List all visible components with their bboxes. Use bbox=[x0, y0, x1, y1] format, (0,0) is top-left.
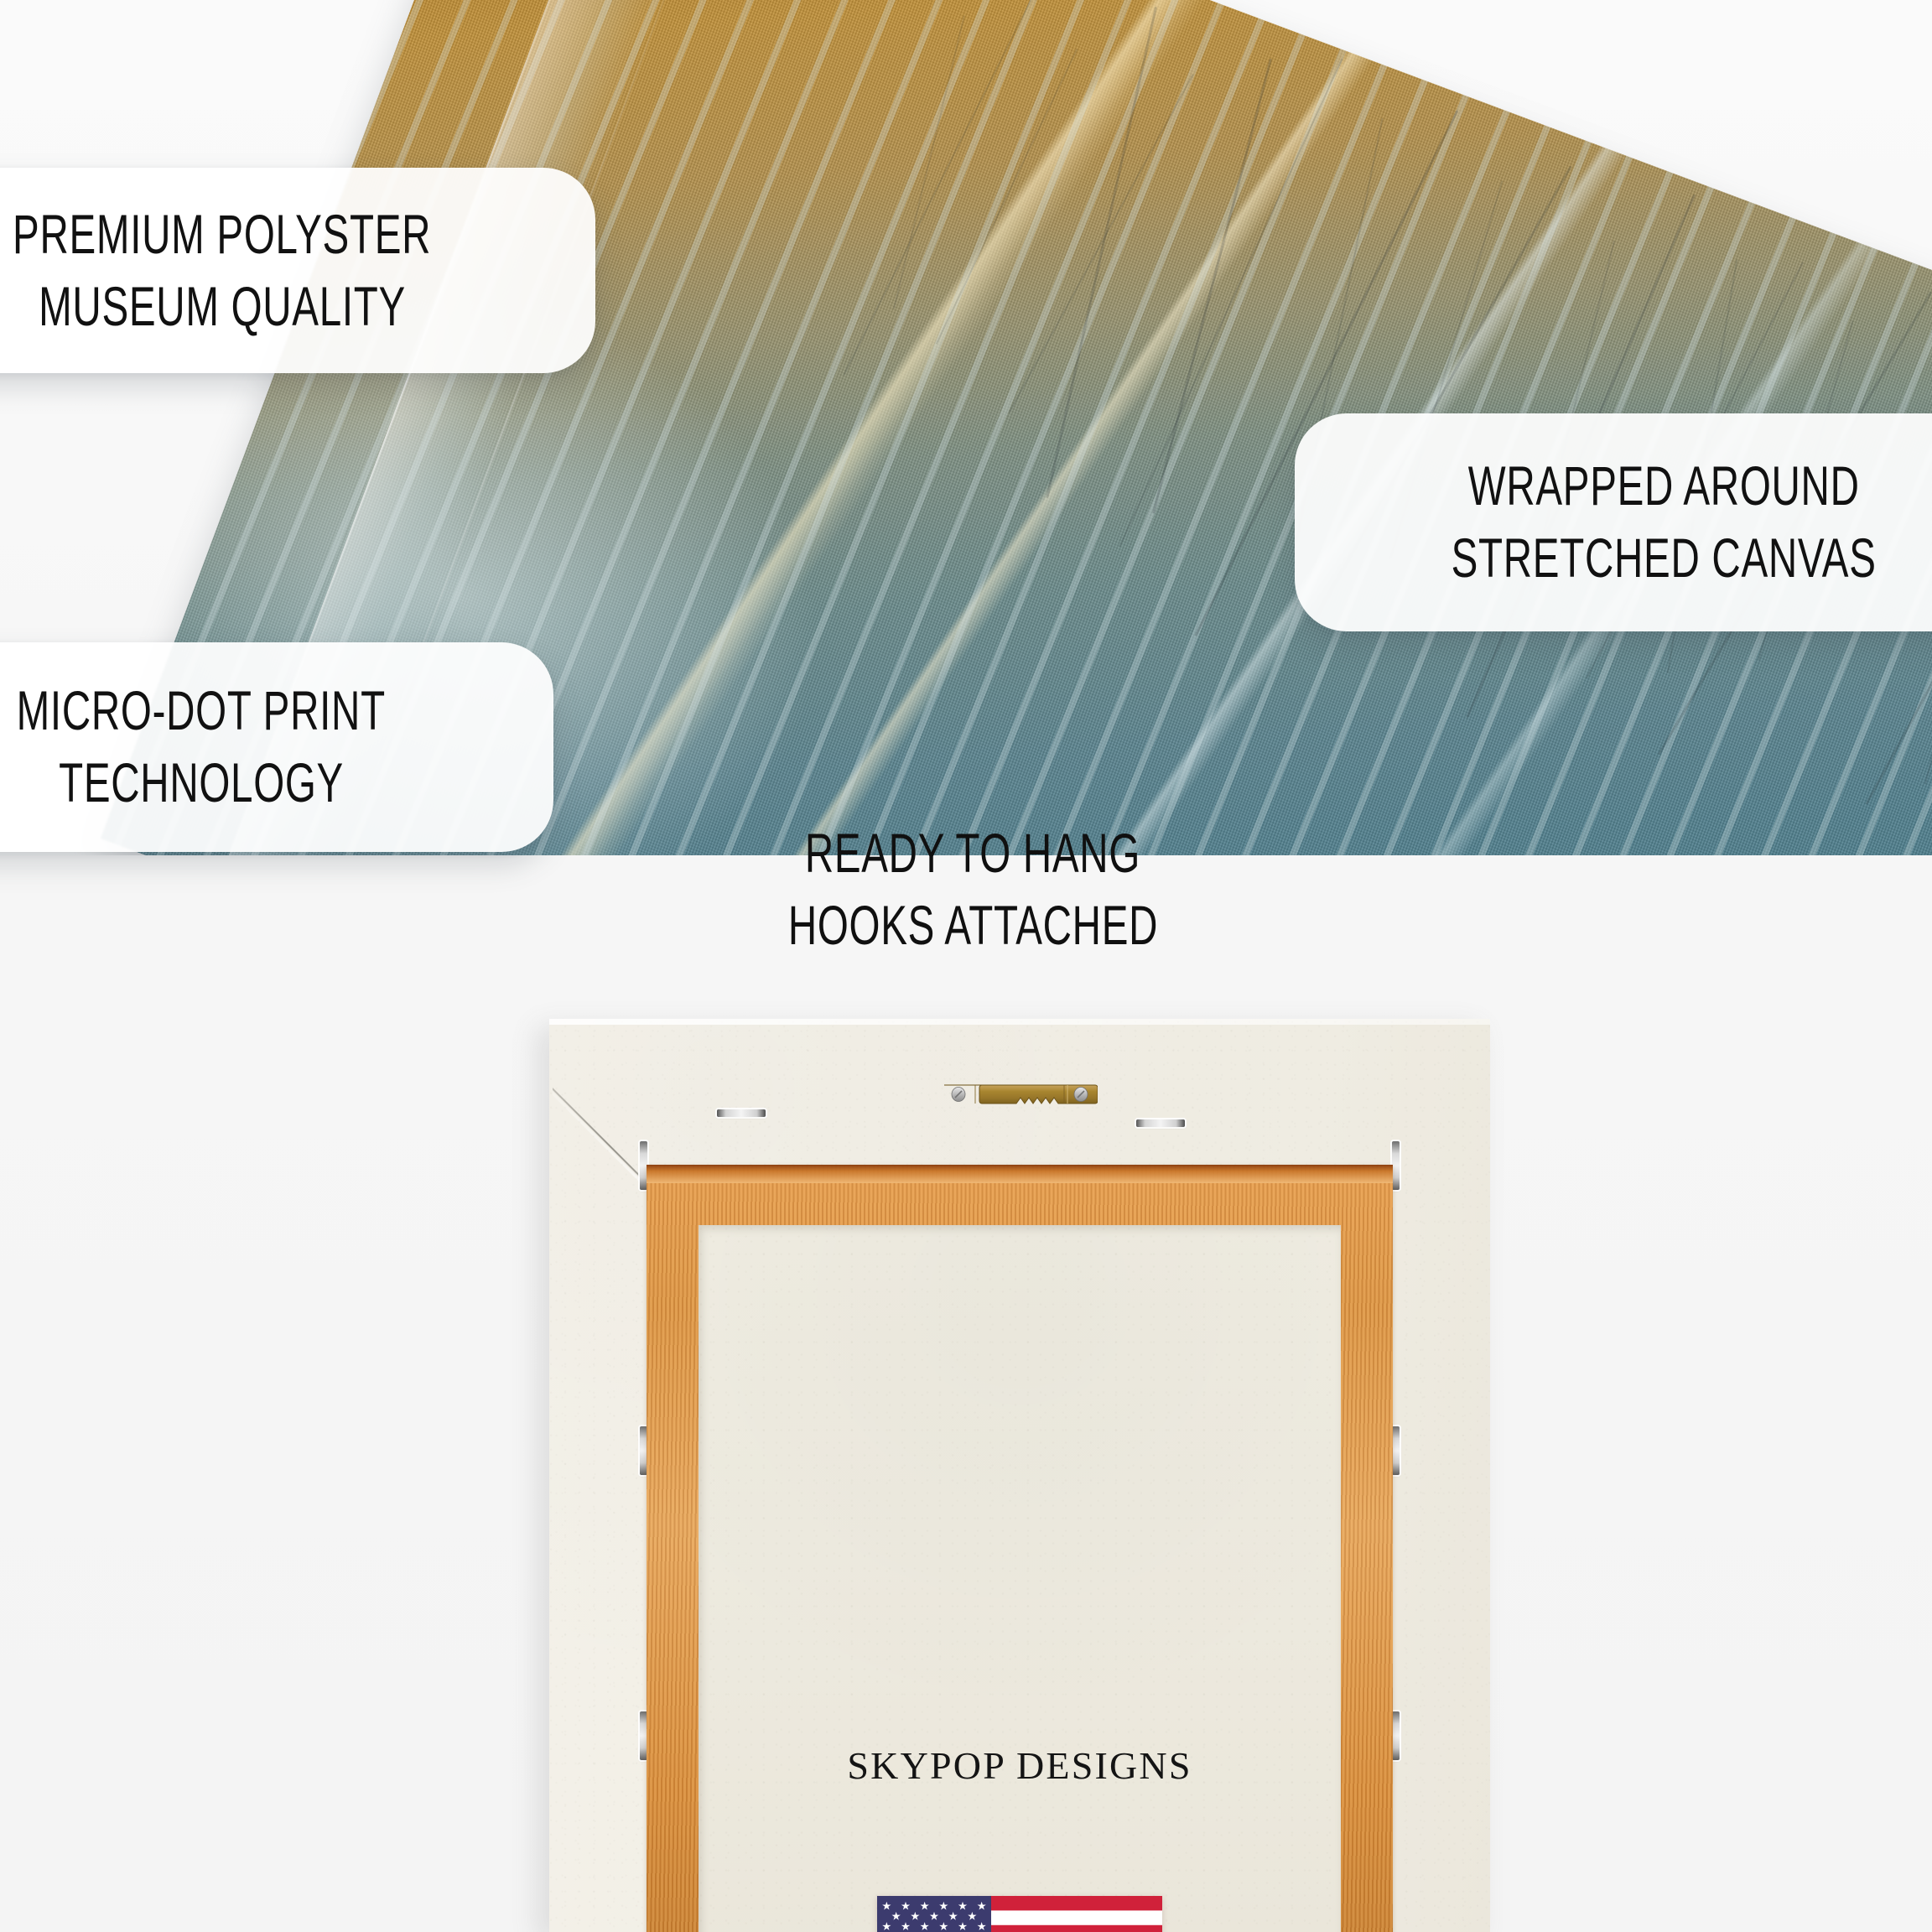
canvas-back-view: SKYPOP DESIGNS bbox=[549, 1019, 1490, 1932]
canvas-mitre-fold-right bbox=[1361, 1022, 1487, 1148]
artwork-branch-line bbox=[936, 49, 1078, 345]
staple bbox=[1136, 1119, 1185, 1127]
artwork-branch-line bbox=[893, 15, 965, 309]
staple bbox=[1392, 1711, 1400, 1760]
ready-to-hang-text: READY TO HANG HOOKS ATTACHED bbox=[654, 818, 1291, 962]
artwork-branch-line bbox=[1008, 74, 1193, 413]
ready-to-hang-line-2: HOOKS ATTACHED bbox=[787, 890, 1157, 962]
artwork-branch-line bbox=[1152, 58, 1272, 513]
badge-microdot-line-1: MICRO-DOT PRINT bbox=[17, 675, 386, 747]
sawtooth-hanger-icon bbox=[942, 1081, 1098, 1116]
inner-canvas-texture bbox=[699, 1225, 1341, 1932]
badge-premium-line-2: MUSEUM QUALITY bbox=[39, 271, 406, 343]
badge-premium-polyster: PREMIUM POLYSTER MUSEUM QUALITY bbox=[0, 168, 595, 373]
badge-wrapped-around: WRAPPED AROUND STRETCHED CANVAS bbox=[1295, 413, 1932, 631]
brand-name: SKYPOP DESIGNS bbox=[699, 1743, 1341, 1788]
staple bbox=[1392, 1141, 1400, 1190]
badge-microdot-line-2: TECHNOLOGY bbox=[59, 747, 344, 819]
badge-premium-line-1: PREMIUM POLYSTER bbox=[13, 199, 431, 271]
staple bbox=[717, 1109, 766, 1117]
badge-wrapped-line-2: STRETCHED CANVAS bbox=[1451, 522, 1876, 595]
ready-to-hang-line-1: READY TO HANG bbox=[805, 818, 1140, 890]
infographic-canvas: PREMIUM POLYSTER MUSEUM QUALITY WRAPPED … bbox=[0, 0, 1932, 1932]
stretcher-top-bevel bbox=[647, 1165, 1393, 1183]
inner-canvas-back-panel: SKYPOP DESIGNS bbox=[699, 1225, 1341, 1932]
us-flag-icon bbox=[877, 1896, 1162, 1932]
staple bbox=[1392, 1426, 1400, 1475]
badge-wrapped-line-1: WRAPPED AROUND bbox=[1468, 450, 1860, 522]
badge-micro-dot-print: MICRO-DOT PRINT TECHNOLOGY bbox=[0, 642, 553, 852]
